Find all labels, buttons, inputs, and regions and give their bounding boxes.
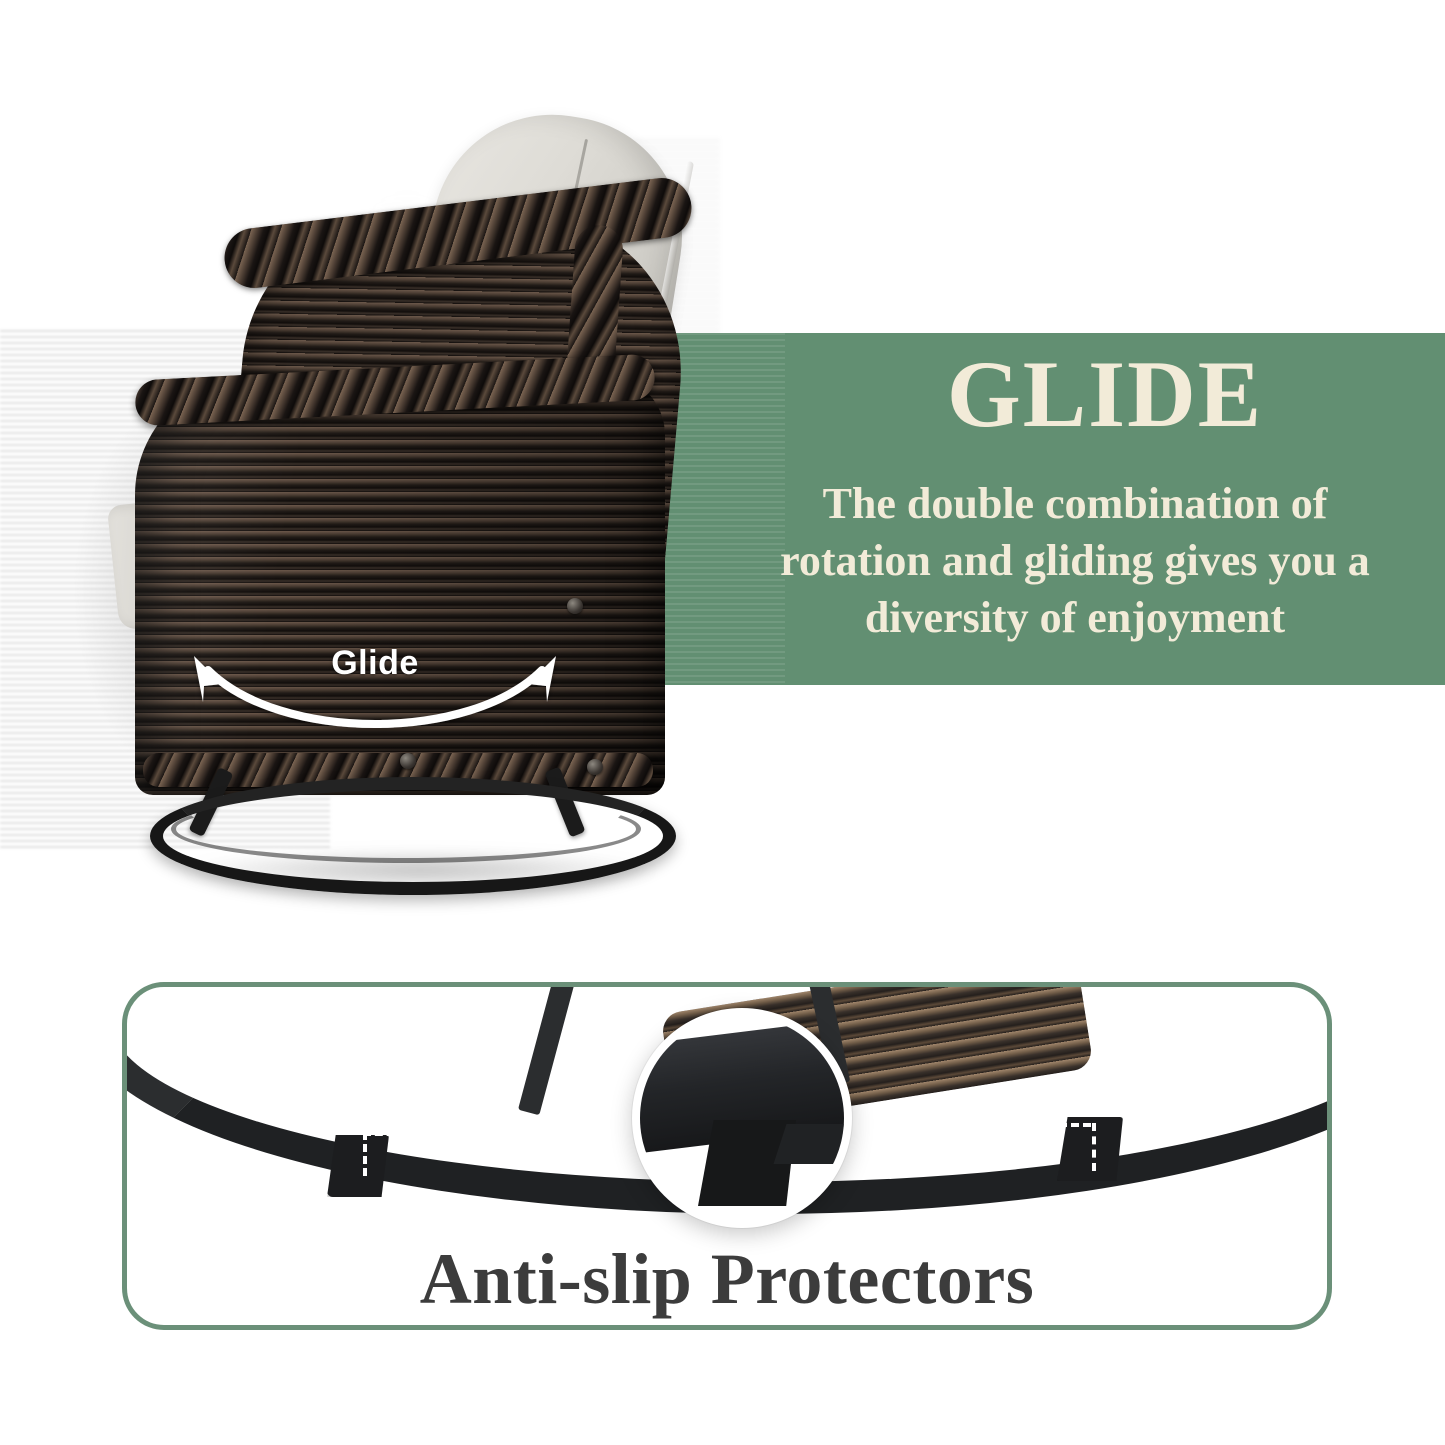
magnifier-callout-icon: [632, 1008, 852, 1228]
measure-line-right: [951, 1123, 1091, 1127]
swivel-base-inner: [171, 795, 641, 863]
magnified-foot-shadow: [774, 1124, 852, 1164]
hero-section: GLIDE The double combination of rotation…: [0, 0, 1445, 950]
glide-text-panel: GLIDE The double combination of rotation…: [655, 333, 1445, 685]
frame-bolt-icon: [587, 759, 603, 775]
double-headed-curved-arrow-icon: [170, 640, 580, 750]
measure-tick-left: [363, 1132, 367, 1176]
measure-tick-right: [1092, 1123, 1096, 1171]
frame-bolt-icon: [400, 753, 416, 769]
product-infographic: GLIDE The double combination of rotation…: [0, 0, 1445, 1445]
glide-description: The double combination of rotation and g…: [655, 475, 1445, 647]
anti-slip-title: Anti-slip Protectors: [122, 1238, 1332, 1321]
glider-chair-image: [95, 105, 735, 865]
glide-heading: GLIDE: [655, 347, 1445, 442]
frame-bolt-icon: [567, 598, 583, 614]
glide-annotation: Glide: [170, 640, 580, 750]
anti-slip-foot: [327, 1135, 389, 1197]
